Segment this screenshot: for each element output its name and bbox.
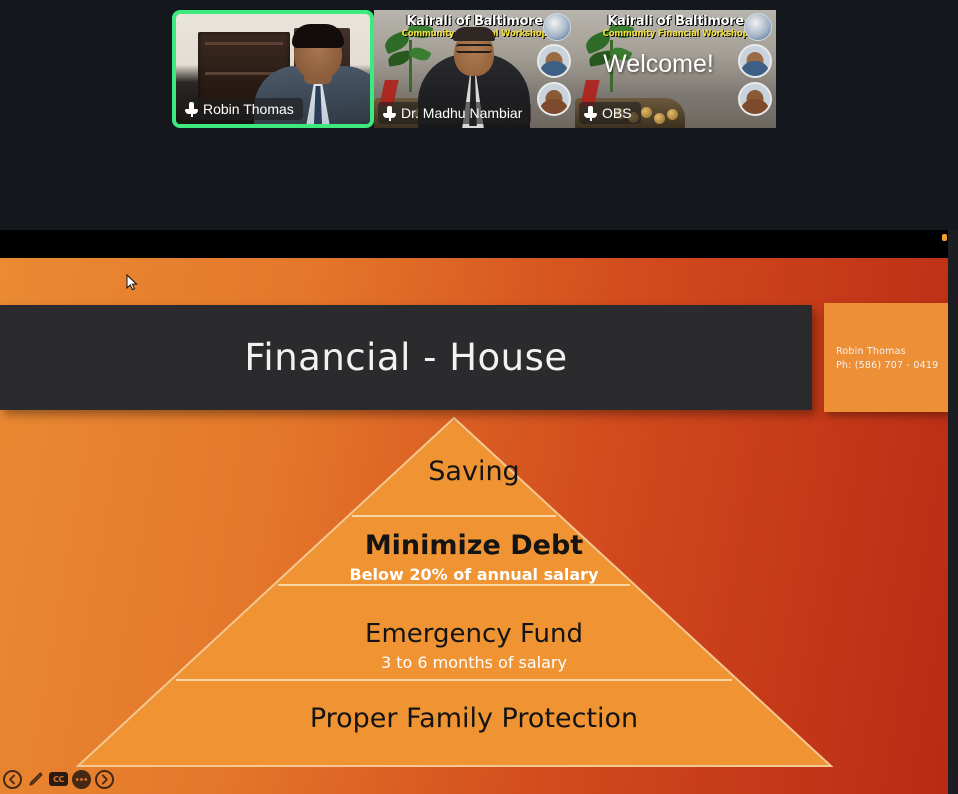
contact-name: Robin Thomas — [836, 345, 950, 359]
participant-name-badge: OBS — [579, 102, 641, 124]
participant-name: Robin Thomas — [203, 101, 294, 117]
pyramid-tier-2-sub: Below 20% of annual salary — [0, 565, 948, 584]
participant-name: OBS — [602, 105, 632, 121]
pyramid-tier-1-label: Saving — [0, 456, 948, 487]
back-arrow-icon[interactable] — [3, 770, 22, 789]
contact-phone: Ph: (586) 707 - 0419 — [836, 359, 950, 373]
pyramid-tier-3-sub: 3 to 6 months of salary — [0, 653, 948, 672]
welcome-headline: Welcome! — [575, 50, 742, 79]
slide-right-edge — [948, 258, 958, 794]
pyramid-tier-3-label: Emergency Fund — [0, 619, 948, 649]
presentation-toolbar[interactable]: CC — [3, 768, 114, 790]
shared-slide[interactable]: Saving Minimize Debt Below 20% of annual… — [0, 258, 948, 794]
status-band — [0, 230, 958, 258]
participant-photo-1 — [738, 44, 772, 78]
presenter-hair — [453, 27, 495, 41]
more-options-icon[interactable] — [72, 770, 91, 789]
participant-name-badge: Robin Thomas — [180, 98, 303, 120]
forward-arrow-icon[interactable] — [95, 770, 114, 789]
video-tile-obs[interactable]: Kairali of Baltimore Community Financial… — [575, 10, 776, 128]
pin-icon — [383, 106, 396, 121]
closed-captions-icon[interactable]: CC — [49, 772, 68, 786]
organization-emblem-icon — [543, 13, 571, 41]
screen: Robin Thomas Kairali of Baltimore — [0, 0, 958, 794]
person-hair — [292, 24, 344, 48]
pyramid-tier-4-label: Proper Family Protection — [0, 703, 948, 734]
video-tile-strip: Robin Thomas Kairali of Baltimore — [172, 10, 776, 128]
pen-annotate-icon[interactable] — [26, 770, 45, 789]
pin-icon — [584, 106, 597, 121]
slide-title: Financial - House — [244, 336, 567, 379]
pyramid-tier-2-label: Minimize Debt — [0, 530, 948, 561]
presenter-glasses-icon — [456, 44, 492, 53]
slide-title-bar: Financial - House — [0, 305, 812, 410]
presenter-contact-card: Robin Thomas Ph: (586) 707 - 0419 — [824, 303, 950, 412]
recording-dot-icon — [942, 234, 947, 241]
participant-photo-1 — [537, 44, 571, 78]
organization-emblem-icon — [744, 13, 772, 41]
video-tile-madhu-nambiar[interactable]: Kairali of Baltimore Community Financial… — [374, 10, 575, 128]
video-tile-robin-thomas[interactable]: Robin Thomas — [172, 10, 374, 128]
participant-photo-2 — [537, 82, 571, 116]
band-right-edge — [948, 230, 958, 258]
mouse-pointer-icon — [126, 274, 138, 292]
participant-name: Dr. Madhu Nambiar — [401, 105, 522, 121]
participant-name-badge: Dr. Madhu Nambiar — [378, 102, 531, 124]
pin-icon — [185, 102, 198, 117]
participant-photo-2 — [738, 82, 772, 116]
